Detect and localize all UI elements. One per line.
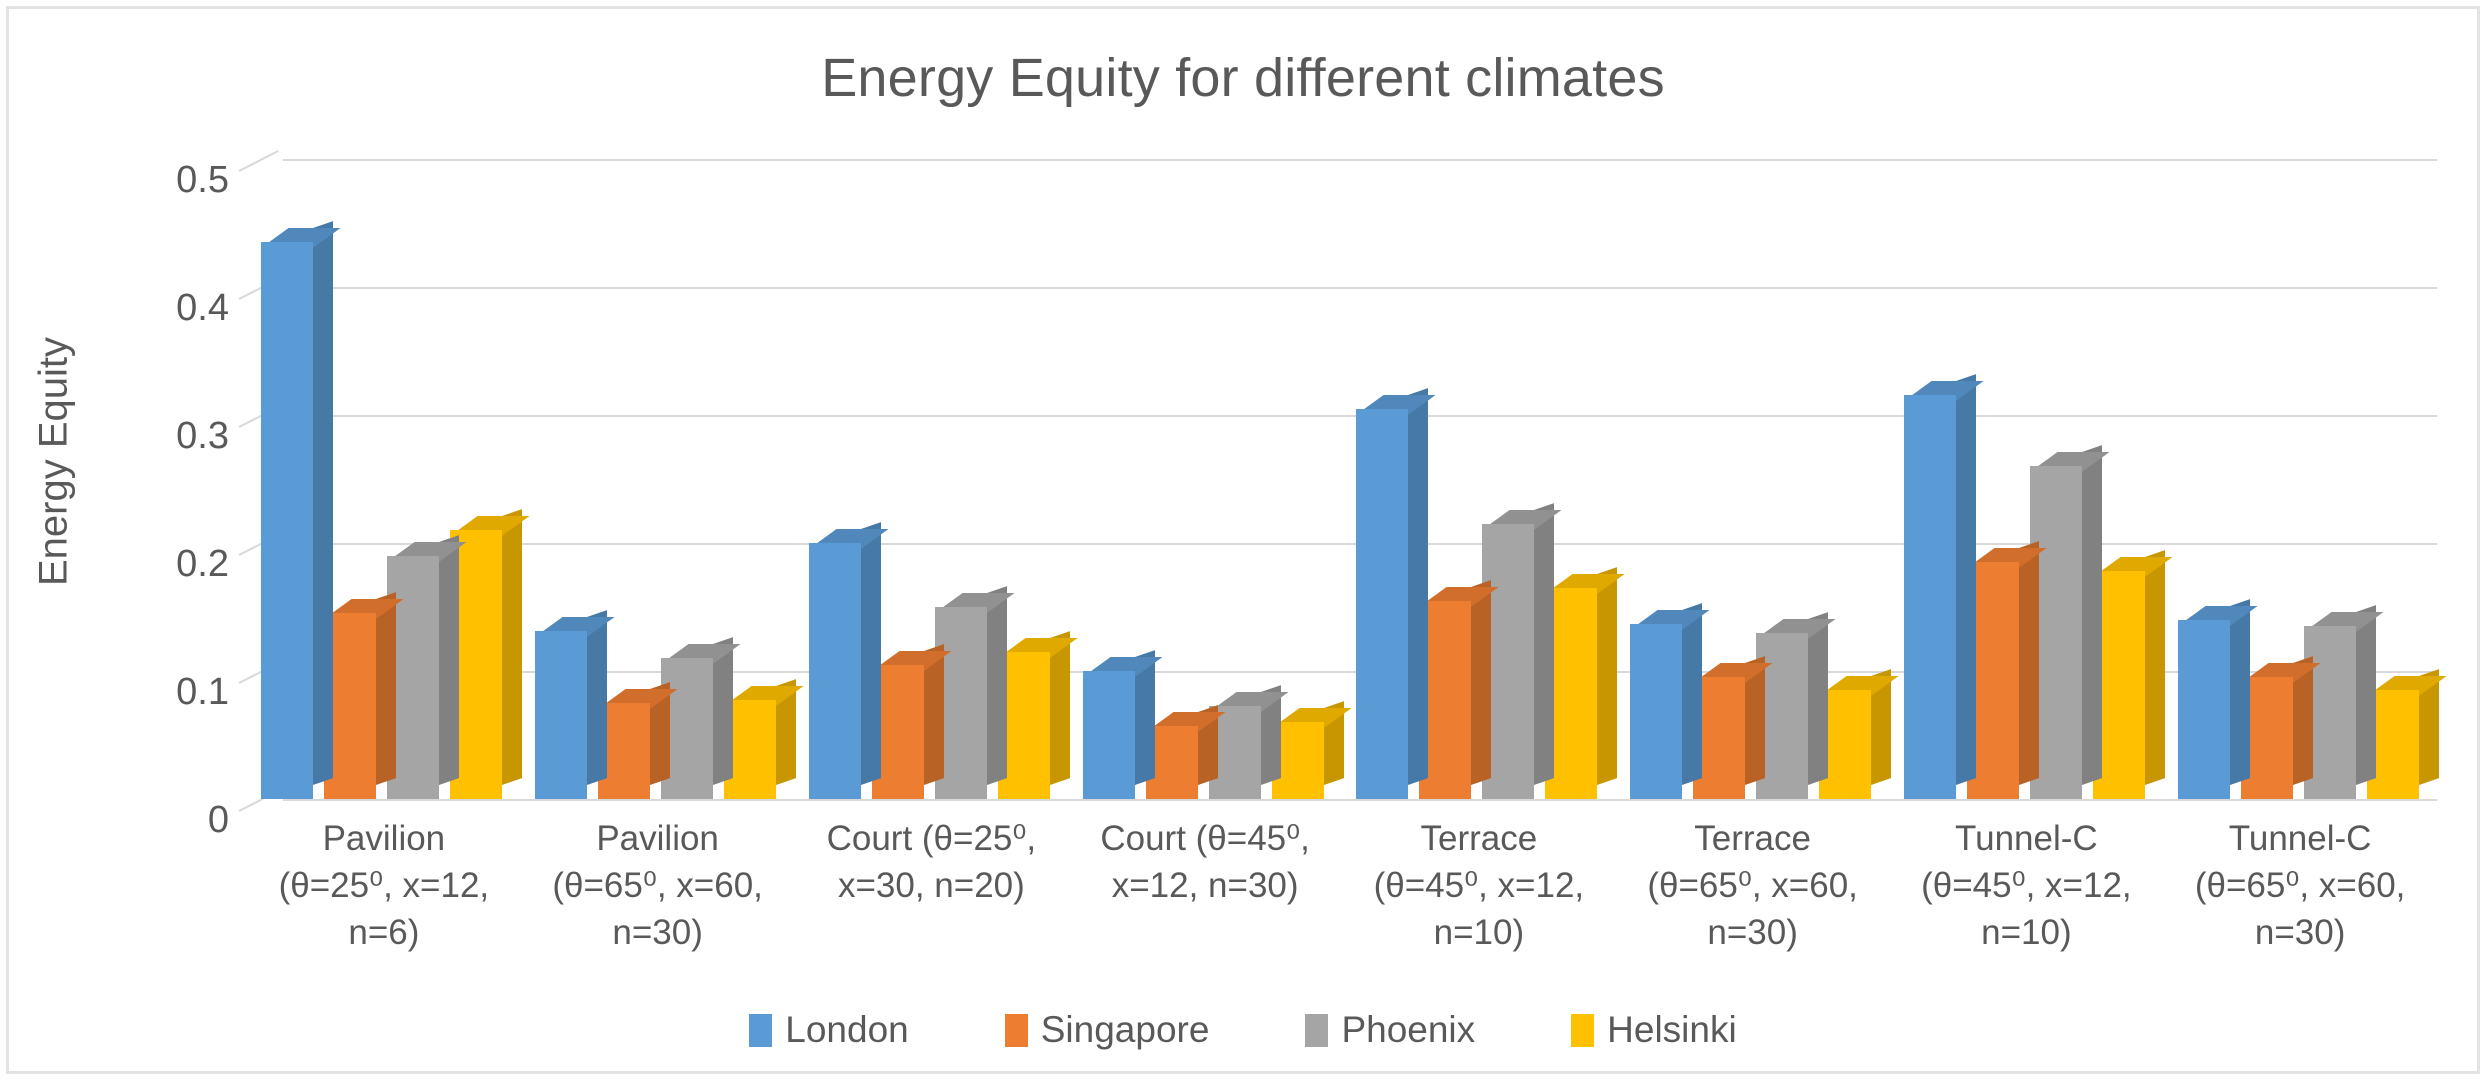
category-label-line: n=10) [1890, 909, 2164, 956]
legend-swatch-icon [1005, 1014, 1028, 1047]
bar-london-5[interactable] [1630, 624, 1682, 799]
category-label-line: Pavilion [247, 815, 521, 862]
x-axis-category-label: Terrace(θ=45⁰, x=12,n=10) [1342, 815, 1616, 956]
bar-face [1630, 624, 1682, 799]
category-label-line: x=12, n=30) [1068, 862, 1342, 909]
category-label-line: Terrace [1616, 815, 1890, 862]
category-label-line: n=30) [2163, 909, 2437, 956]
bar-side [1808, 612, 1828, 785]
bar-group [521, 159, 795, 799]
bar-side [1534, 503, 1554, 785]
y-axis-tick-label: 0.2 [89, 543, 229, 586]
x-axis-category-label: Pavilion(θ=25⁰, x=12,n=6) [247, 815, 521, 956]
bar-london-0[interactable] [261, 242, 313, 799]
bar-side [313, 221, 333, 785]
bar-london-2[interactable] [809, 543, 861, 799]
bar-group [1890, 159, 2164, 799]
category-label-line: x=30, n=20) [795, 862, 1069, 909]
x-axis-category-label: Court (θ=25⁰,x=30, n=20) [795, 815, 1069, 909]
bar-side [1597, 567, 1617, 785]
bar-face [1904, 395, 1956, 799]
bar-group [247, 159, 521, 799]
category-label-line: Pavilion [521, 815, 795, 862]
bar-face [1083, 671, 1135, 799]
bar-group [2163, 159, 2437, 799]
legend-label: Singapore [1041, 1009, 1210, 1051]
legend-label: Helsinki [1607, 1009, 1737, 1051]
category-label-line: Court (θ=25⁰, [795, 815, 1069, 862]
category-label-line: Tunnel-C [2163, 815, 2437, 862]
x-axis-category-label: Terrace(θ=65⁰, x=60,n=30) [1616, 815, 1890, 956]
bar-face [535, 631, 587, 799]
category-label-line: n=6) [247, 909, 521, 956]
y-axis-tick-label: 0.5 [89, 159, 229, 202]
legend-item-helsinki[interactable]: Helsinki [1571, 1009, 1737, 1051]
x-axis-category-label: Court (θ=45⁰,x=12, n=30) [1068, 815, 1342, 909]
bar-side [2356, 605, 2376, 785]
legend-item-phoenix[interactable]: Phoenix [1305, 1009, 1475, 1051]
legend-item-singapore[interactable]: Singapore [1005, 1009, 1210, 1051]
bar-london-3[interactable] [1083, 671, 1135, 799]
y-axis-tick-label: 0.3 [89, 415, 229, 458]
bars-layer [247, 159, 2437, 799]
y-axis-tick-label: 0 [89, 799, 229, 842]
category-label-line: (θ=65⁰, x=60, [1616, 862, 1890, 909]
legend-label: Phoenix [1341, 1009, 1475, 1051]
bar-side [2019, 541, 2039, 785]
chart-container: Energy Equity for different climates Ene… [6, 6, 2480, 1074]
legend-label: London [785, 1009, 908, 1051]
legend-swatch-icon [749, 1014, 772, 1047]
category-label-line: n=30) [1616, 909, 1890, 956]
x-axis-category-label: Pavilion(θ=65⁰, x=60,n=30) [521, 815, 795, 956]
bar-group [795, 159, 1069, 799]
bar-side [1956, 374, 1976, 785]
bar-side [502, 509, 522, 785]
bar-face [1356, 409, 1408, 799]
bar-group [1342, 159, 1616, 799]
bar-london-1[interactable] [535, 631, 587, 799]
bar-side [2230, 599, 2250, 785]
legend-item-london[interactable]: London [749, 1009, 908, 1051]
category-label-line: (θ=45⁰, x=12, [1890, 862, 2164, 909]
plot-area [247, 159, 2437, 799]
bar-side [987, 586, 1007, 785]
bar-london-6[interactable] [1904, 395, 1956, 799]
bar-face [2178, 620, 2230, 799]
bar-side [2145, 550, 2165, 785]
category-label-line: n=10) [1342, 909, 1616, 956]
bar-group [1068, 159, 1342, 799]
bar-side [1471, 580, 1491, 785]
bar-london-7[interactable] [2178, 620, 2230, 799]
x-axis-category-label: Tunnel-C(θ=65⁰, x=60,n=30) [2163, 815, 2437, 956]
bar-group [1616, 159, 1890, 799]
x-axis-category-label: Tunnel-C(θ=45⁰, x=12,n=10) [1890, 815, 2164, 956]
category-label-line: (θ=25⁰, x=12, [247, 862, 521, 909]
category-label-line: (θ=45⁰, x=12, [1342, 862, 1616, 909]
bar-side [376, 593, 396, 785]
category-label-line: (θ=65⁰, x=60, [2163, 862, 2437, 909]
category-label-line: Terrace [1342, 815, 1616, 862]
bar-side [439, 535, 459, 785]
bar-london-4[interactable] [1356, 409, 1408, 799]
category-label-line: (θ=65⁰, x=60, [521, 862, 795, 909]
chart-title: Energy Equity for different climates [9, 47, 2477, 109]
y-axis-title: Energy Equity [32, 282, 77, 642]
bar-side [1408, 388, 1428, 785]
bar-face [809, 543, 861, 799]
bar-side [1682, 603, 1702, 785]
gridline [283, 799, 2437, 801]
bar-face [261, 242, 313, 799]
bar-side [587, 610, 607, 785]
category-label-line: Tunnel-C [1890, 815, 2164, 862]
legend-swatch-icon [1571, 1014, 1594, 1047]
legend-swatch-icon [1305, 1014, 1328, 1047]
legend: LondonSingaporePhoenixHelsinki [9, 1009, 2477, 1051]
x-axis-category-labels: Pavilion(θ=25⁰, x=12,n=6)Pavilion(θ=65⁰,… [247, 815, 2437, 1000]
y-axis-tick-label: 0.4 [89, 287, 229, 330]
category-label-line: Court (θ=45⁰, [1068, 815, 1342, 862]
bar-side [861, 522, 881, 785]
category-label-line: n=30) [521, 909, 795, 956]
y-axis-tick-label: 0.1 [89, 671, 229, 714]
bar-side [2082, 445, 2102, 785]
